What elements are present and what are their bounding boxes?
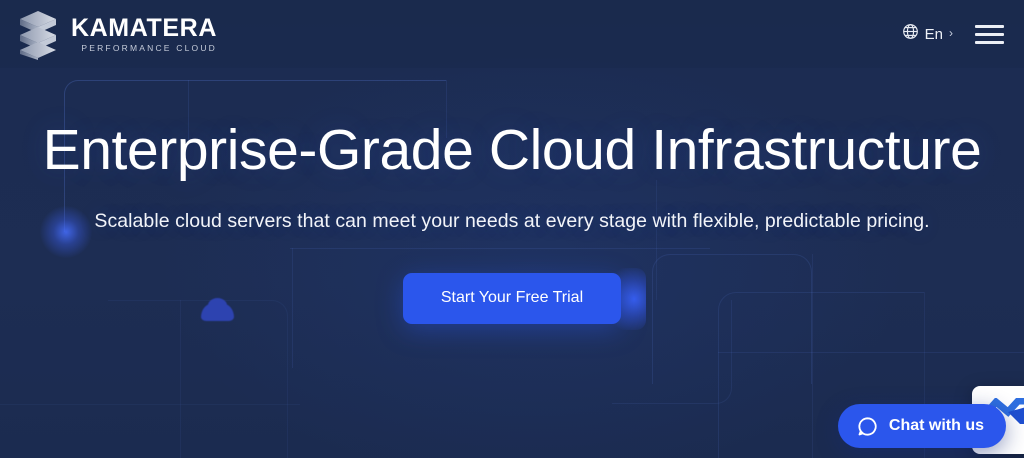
hero-subtitle: Scalable cloud servers that can meet you… [94,210,929,233]
page-root: KAMATERA PERFORMANCE CLOUD En › [0,0,1024,458]
hero-section: Enterprise-Grade Cloud Infrastructure Sc… [0,68,1024,458]
hamburger-menu-icon[interactable] [975,21,1004,48]
globe-icon [902,23,919,45]
brand-name: KAMATERA [71,16,217,42]
brand-logo-link[interactable]: KAMATERA PERFORMANCE CLOUD [16,8,217,60]
chat-with-us-label: Chat with us [889,417,984,435]
brand-tagline: PERFORMANCE CLOUD [71,41,217,54]
hamburger-bar-2 [975,33,1004,36]
hamburger-bar-3 [975,41,1004,44]
site-header: KAMATERA PERFORMANCE CLOUD En › [0,0,1024,68]
chevron-right-icon: › [949,27,953,39]
header-nav-right: En › [902,21,1004,48]
page-title: Enterprise-Grade Cloud Infrastructure [43,120,982,182]
hamburger-bar-1 [975,25,1004,28]
chat-bubble-icon [857,416,878,437]
kamatera-stacked-layers-logo-icon [16,8,60,60]
chat-with-us-button[interactable]: Chat with us [838,404,1006,448]
language-selector[interactable]: En › [902,23,953,45]
brand-text: KAMATERA PERFORMANCE CLOUD [71,14,217,55]
language-label: En [925,26,943,43]
start-free-trial-button[interactable]: Start Your Free Trial [403,273,621,324]
